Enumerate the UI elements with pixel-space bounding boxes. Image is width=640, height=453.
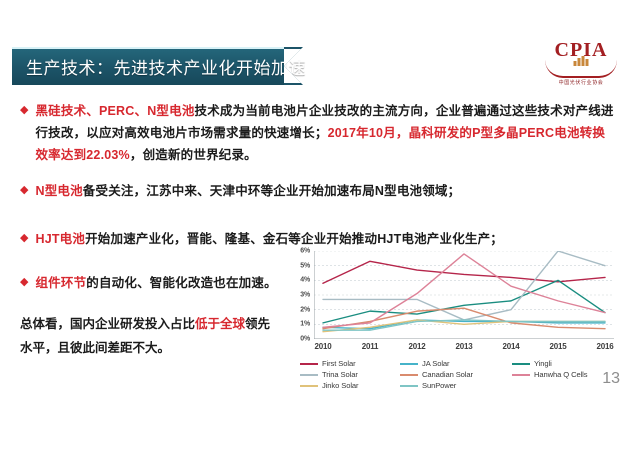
chart-x-tick-label: 2014 xyxy=(503,342,520,351)
legend-item[interactable]: Yingli xyxy=(512,359,622,368)
bullet-text-1: 黑硅技术、PERC、N型电池技术成为当前电池片企业技改的主流方向，企业普遍通过这… xyxy=(35,100,615,166)
chart-svg xyxy=(314,251,614,339)
chart-x-axis: 2010201120122013201420152016 xyxy=(314,342,614,356)
chart-series-line xyxy=(323,254,605,327)
chart-x-tick-label: 2010 xyxy=(315,342,332,351)
legend-color-swatch xyxy=(512,363,530,365)
chart-y-tick-label: 6% xyxy=(300,248,310,255)
bullet-item-2: ◆ N型电池备受关注，江苏中来、天津中环等企业开始加速布局N型电池领域； xyxy=(20,180,540,202)
bullet-4-seg-1: 的自动化、智能化改造也在加速。 xyxy=(86,276,277,290)
banner-arrow-notch xyxy=(284,49,301,83)
chart-x-tick-label: 2015 xyxy=(550,342,567,351)
summary-text: 总体看，国内企业研发投入占比低于全球领先水平，且彼此间差距不大。 xyxy=(20,312,275,360)
bullet-text-4: 组件环节的自动化、智能化改造也在加速。 xyxy=(35,272,276,294)
legend-item[interactable]: Canadian Solar xyxy=(400,370,512,379)
chart-x-tick-label: 2013 xyxy=(456,342,473,351)
bullet-1-seg-3: ，创造新的世界纪录。 xyxy=(130,148,257,162)
chart-legend: First SolarJA SolarYingliTrina SolarCana… xyxy=(300,359,622,390)
legend-color-swatch xyxy=(400,363,418,365)
legend-color-swatch xyxy=(300,363,318,365)
page-number: 13 xyxy=(602,370,620,388)
banner-top-highlight xyxy=(12,47,284,49)
bullet-diamond-icon: ◆ xyxy=(20,272,28,292)
chart-y-axis: 0%1%2%3%4%5%6% xyxy=(286,247,312,343)
chart-series-group xyxy=(323,251,605,332)
legend-item[interactable]: SunPower xyxy=(400,381,512,390)
logo-swoosh-icon xyxy=(545,60,617,78)
chart-y-tick-label: 3% xyxy=(300,292,310,299)
logo-bars-icon xyxy=(574,56,589,66)
legend-label: Hanwha Q Cells xyxy=(534,370,587,379)
legend-color-swatch xyxy=(300,374,318,376)
bullet-3-seg-0: HJT电池 xyxy=(35,232,85,246)
legend-label: SunPower xyxy=(422,381,456,390)
bullet-3-seg-1: 开始加速产业化，晋能、隆基、金石等企业开始推动HJT电池产业化生产； xyxy=(85,232,503,246)
legend-color-swatch xyxy=(512,374,530,376)
chart-y-tick-label: 0% xyxy=(300,336,310,343)
logo-subtitle: 中国光伏行业协会 xyxy=(540,79,622,86)
summary-seg-0: 总体看，国内企业研发投入占比 xyxy=(20,317,195,331)
legend-label: Canadian Solar xyxy=(422,370,473,379)
chart-plot-area xyxy=(314,251,614,339)
legend-item[interactable]: JA Solar xyxy=(400,359,512,368)
bullet-item-4: ◆ 组件环节的自动化、智能化改造也在加速。 xyxy=(20,272,300,294)
legend-item[interactable]: Jinko Solar xyxy=(300,381,400,390)
slide-root: 生产技术：先进技术产业化开始加速 CPIA 中国光伏行业协会 ◆ 黑硅技术、PE… xyxy=(0,0,640,453)
page-title: 生产技术：先进技术产业化开始加速 xyxy=(26,54,306,79)
legend-color-swatch xyxy=(400,385,418,387)
legend-label: Yingli xyxy=(534,359,552,368)
legend-color-swatch xyxy=(400,374,418,376)
chart-y-tick-label: 2% xyxy=(300,306,310,313)
legend-label: Jinko Solar xyxy=(322,381,358,390)
chart-y-tick-label: 4% xyxy=(300,277,310,284)
legend-label: First Solar xyxy=(322,359,356,368)
bullet-1-seg-0: 黑硅技术、PERC、N型电池 xyxy=(35,104,194,118)
legend-item[interactable]: Trina Solar xyxy=(300,370,400,379)
banner-body: 生产技术：先进技术产业化开始加速 xyxy=(12,47,284,85)
chart-series-line xyxy=(323,261,605,283)
legend-item[interactable]: First Solar xyxy=(300,359,400,368)
chart-series-line xyxy=(323,308,605,329)
chart-y-tick-label: 5% xyxy=(300,262,310,269)
legend-label: JA Solar xyxy=(422,359,449,368)
summary-seg-1: 低于全球 xyxy=(195,317,245,331)
bullet-item-1: ◆ 黑硅技术、PERC、N型电池技术成为当前电池片企业技改的主流方向，企业普遍通… xyxy=(20,100,620,166)
bullet-diamond-icon: ◆ xyxy=(20,100,28,120)
legend-label: Trina Solar xyxy=(322,370,358,379)
bullet-diamond-icon: ◆ xyxy=(20,228,28,248)
title-banner: 生产技术：先进技术产业化开始加速 xyxy=(12,47,304,85)
bullet-4-seg-0: 组件环节 xyxy=(35,276,86,290)
chart-x-tick-label: 2016 xyxy=(597,342,614,351)
cpia-logo: CPIA 中国光伏行业协会 xyxy=(540,40,622,90)
bullet-text-2: N型电池备受关注，江苏中来、天津中环等企业开始加速布局N型电池领域； xyxy=(35,180,460,202)
legend-color-swatch xyxy=(300,385,318,387)
bullet-2-seg-1: 备受关注，江苏中来、天津中环等企业开始加速布局N型电池领域； xyxy=(83,184,461,198)
bullet-2-seg-0: N型电池 xyxy=(35,184,82,198)
rd-intensity-line-chart: 0%1%2%3%4%5%6% 2010201120122013201420152… xyxy=(286,247,624,407)
chart-x-tick-label: 2012 xyxy=(409,342,426,351)
chart-y-tick-label: 1% xyxy=(300,321,310,328)
bullet-diamond-icon: ◆ xyxy=(20,180,28,200)
chart-x-tick-label: 2011 xyxy=(362,342,379,351)
